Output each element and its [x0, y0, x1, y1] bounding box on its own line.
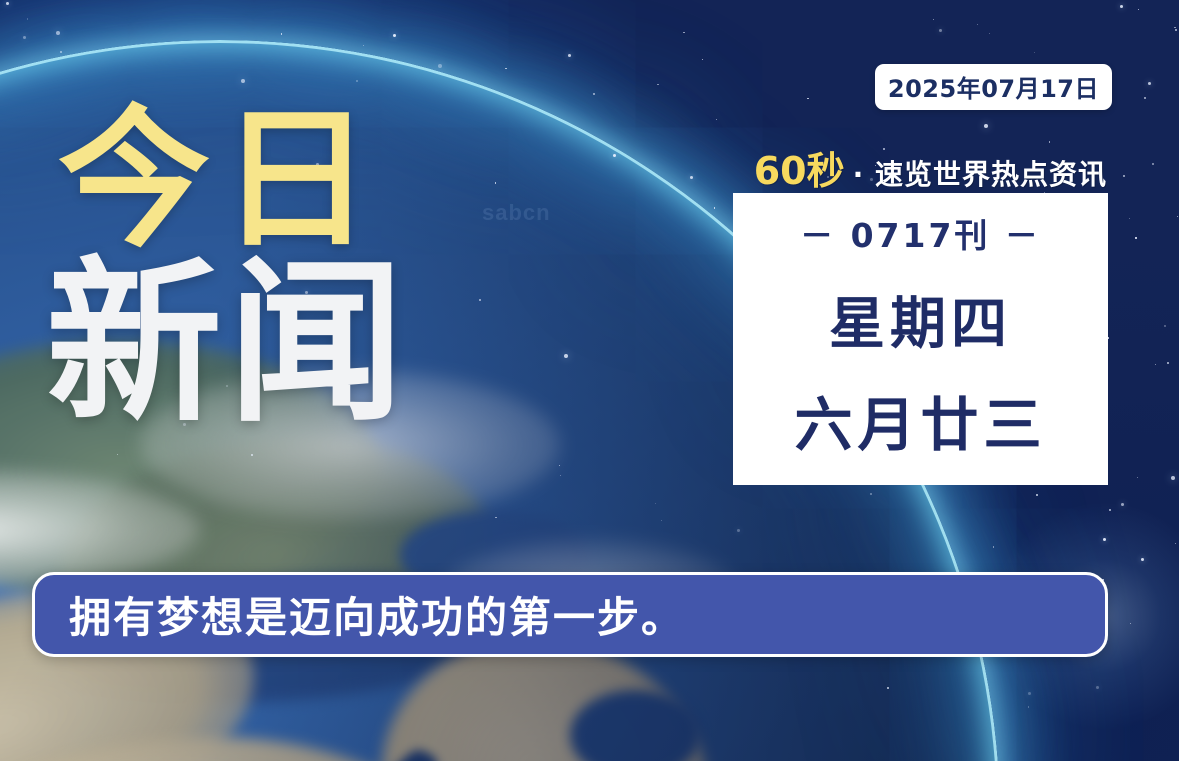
quote-text: 拥有梦想是迈向成功的第一步。 — [69, 584, 685, 645]
weekday-label: 星期四 — [829, 279, 1012, 360]
poster-headline: 今日 新闻 — [58, 100, 410, 436]
tagline: 60秒 · 速览世界热点资讯 — [754, 140, 1107, 195]
date-badge-label: 2025年07月17日 — [888, 75, 1099, 103]
news-poster: sabcn 今日 新闻 2025年07月17日 60秒 · 速览世界热点资讯 －… — [0, 0, 1179, 761]
quote-banner: 拥有梦想是迈向成功的第一步。 — [32, 572, 1108, 657]
headline-line-news: 新闻 — [46, 252, 410, 437]
headline-line-today: 今日 — [58, 100, 410, 260]
tagline-text: · 速览世界热点资讯 — [853, 153, 1107, 193]
issue-info-card: － 0717刊 － 星期四 六月廿三 — [733, 193, 1108, 485]
tagline-highlight: 60秒 — [754, 140, 845, 195]
lunar-date-label: 六月廿三 — [794, 378, 1046, 462]
issue-number: － 0717刊 － — [800, 209, 1041, 257]
date-badge: 2025年07月17日 — [875, 64, 1112, 110]
